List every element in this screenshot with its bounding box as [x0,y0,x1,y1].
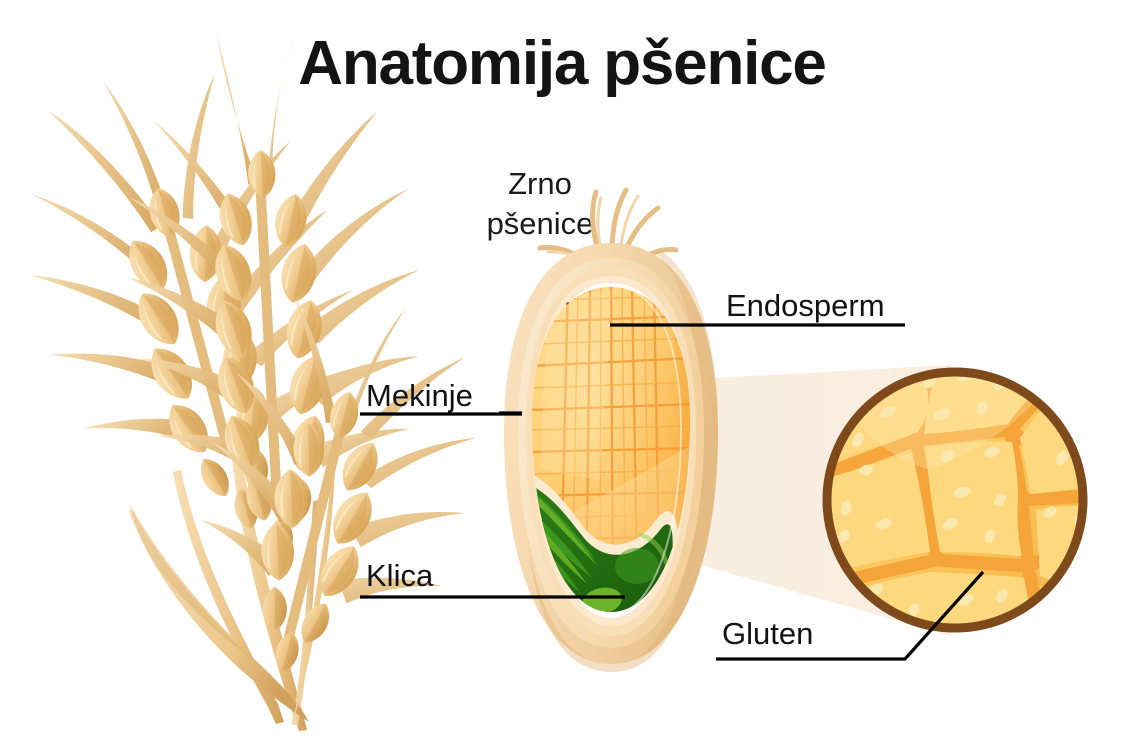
callout-label-endosperm: Endosperm [726,288,885,324]
callout-label-mekinje: Mekinje [366,378,473,414]
wheat-grain-cross-section [0,0,1124,750]
infographic-root: Anatomija pšenice [0,0,1124,750]
callout-label-gluten: Gluten [722,616,813,652]
callout-label-klica: Klica [366,558,433,594]
grain-body [504,190,718,672]
gluten-magnifier [827,355,1103,658]
